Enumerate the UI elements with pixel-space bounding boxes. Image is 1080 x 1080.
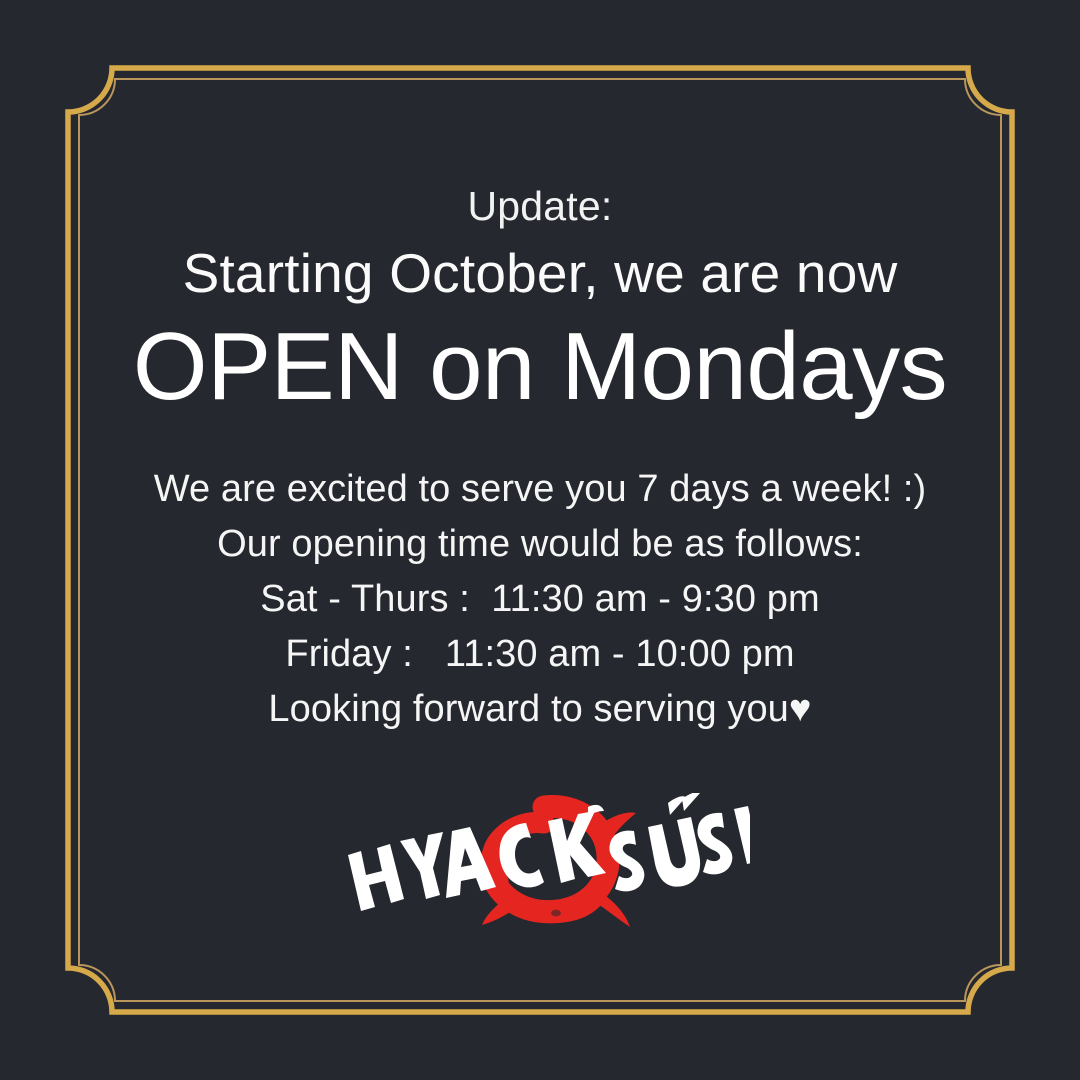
details-line-excited: We are excited to serve you 7 days a wee… bbox=[154, 462, 927, 517]
poster-content: Update: Starting October, we are now OPE… bbox=[90, 0, 990, 1080]
details-line-closing: Looking forward to serving you♥ bbox=[268, 682, 811, 737]
announcement-subhead: Starting October, we are now bbox=[183, 245, 898, 303]
hours-line-friday: Friday : 11:30 am - 10:00 pm bbox=[285, 627, 794, 682]
details-line-intro: Our opening time would be as follows: bbox=[217, 517, 863, 572]
details-block: We are excited to serve you 7 days a wee… bbox=[154, 462, 927, 737]
announcement-headline: OPEN on Mondays bbox=[133, 317, 947, 418]
announcement-poster: Update: Starting October, we are now OPE… bbox=[0, 0, 1080, 1080]
update-eyebrow: Update: bbox=[467, 185, 612, 228]
hours-line-sat-thurs: Sat - Thurs : 11:30 am - 9:30 pm bbox=[260, 572, 819, 627]
hyack-sushi-logo bbox=[330, 793, 750, 933]
